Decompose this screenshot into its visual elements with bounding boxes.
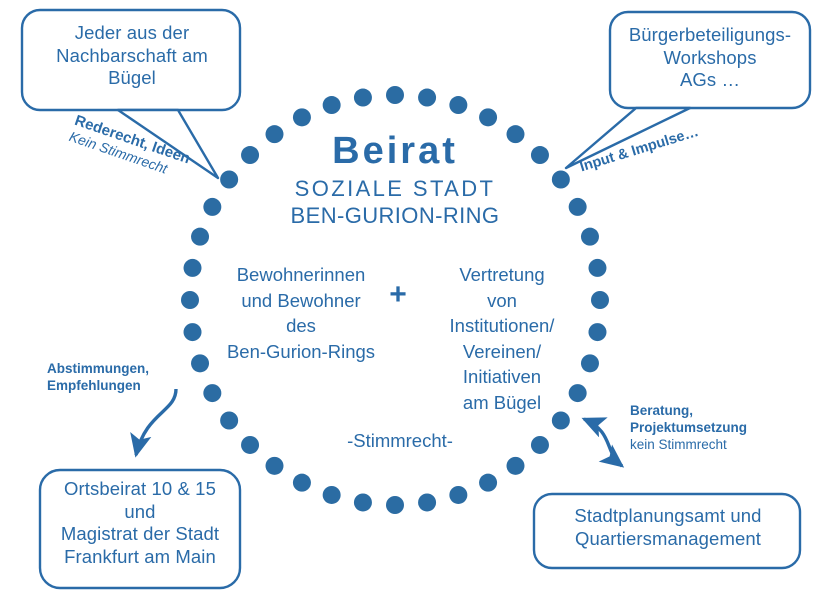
annotation-abstimmungen: Abstimmungen, Empfehlungen [47, 361, 207, 395]
arrow-ring-to-ortsbeirat [136, 389, 176, 455]
ring-dot [191, 228, 209, 246]
ring-dot [293, 474, 311, 492]
ring-dot [418, 89, 436, 107]
ring-dot [449, 486, 467, 504]
ring-dot [323, 96, 341, 114]
ring-dot [569, 198, 587, 216]
ring-dot [323, 486, 341, 504]
ring-dot [184, 259, 202, 277]
ring-dot [588, 259, 606, 277]
ring-dot [203, 198, 221, 216]
callout-top-right-text: Bürgerbeteiligungs- Workshops AGs … [614, 24, 806, 92]
annotation-beratung-bold: Beratung, Projektumsetzung [630, 403, 747, 435]
ring-dot [581, 228, 599, 246]
ring-dot [591, 291, 609, 309]
annotation-beratung: Beratung, Projektumsetzung kein Stimmrec… [630, 403, 810, 454]
callout-top-left-text: Jeder aus der Nachbarschaft am Bügel [30, 22, 234, 90]
ring-dot [449, 96, 467, 114]
page-title: Beirat [245, 128, 545, 174]
ring-dot [181, 291, 199, 309]
arrow-ring-stadtplanungsamt [584, 419, 622, 466]
page-subtitle-2: BEN-GURION-RING [245, 203, 545, 230]
box-bottom-left-text: Ortsbeirat 10 & 15 und Magistrat der Sta… [44, 478, 236, 568]
ring-dot [184, 323, 202, 341]
ring-dot [531, 436, 549, 454]
ring-dot [552, 171, 570, 189]
annotation-beratung-regular: kein Stimmrecht [630, 437, 810, 454]
ring-dot [418, 493, 436, 511]
voting-rights-label: -Stimmrecht- [310, 430, 490, 453]
members-institutions-column: Vertretung von Institutionen/ Vereinen/ … [420, 262, 584, 415]
plus-icon: + [378, 277, 418, 314]
ring-dot [354, 89, 372, 107]
ring-dot [386, 86, 404, 104]
ring-dot [220, 171, 238, 189]
ring-dot [386, 496, 404, 514]
box-bottom-right-text: Stadtplanungsamt und Quartiersmanagement [540, 505, 796, 550]
ring-dot [220, 412, 238, 430]
members-residents-column: Bewohnerinnen und Bewohner des Ben-Gurio… [213, 262, 389, 364]
ring-dot [479, 474, 497, 492]
ring-dot [293, 108, 311, 126]
ring-dot [241, 436, 259, 454]
ring-dot [588, 323, 606, 341]
page-subtitle-1: SOZIALE STADT [245, 176, 545, 203]
ring-dot [479, 108, 497, 126]
ring-dot [354, 493, 372, 511]
ring-dot [266, 457, 284, 475]
diagram-canvas: Jeder aus der Nachbarschaft am Bügel Red… [0, 0, 820, 600]
ring-dot [507, 457, 525, 475]
